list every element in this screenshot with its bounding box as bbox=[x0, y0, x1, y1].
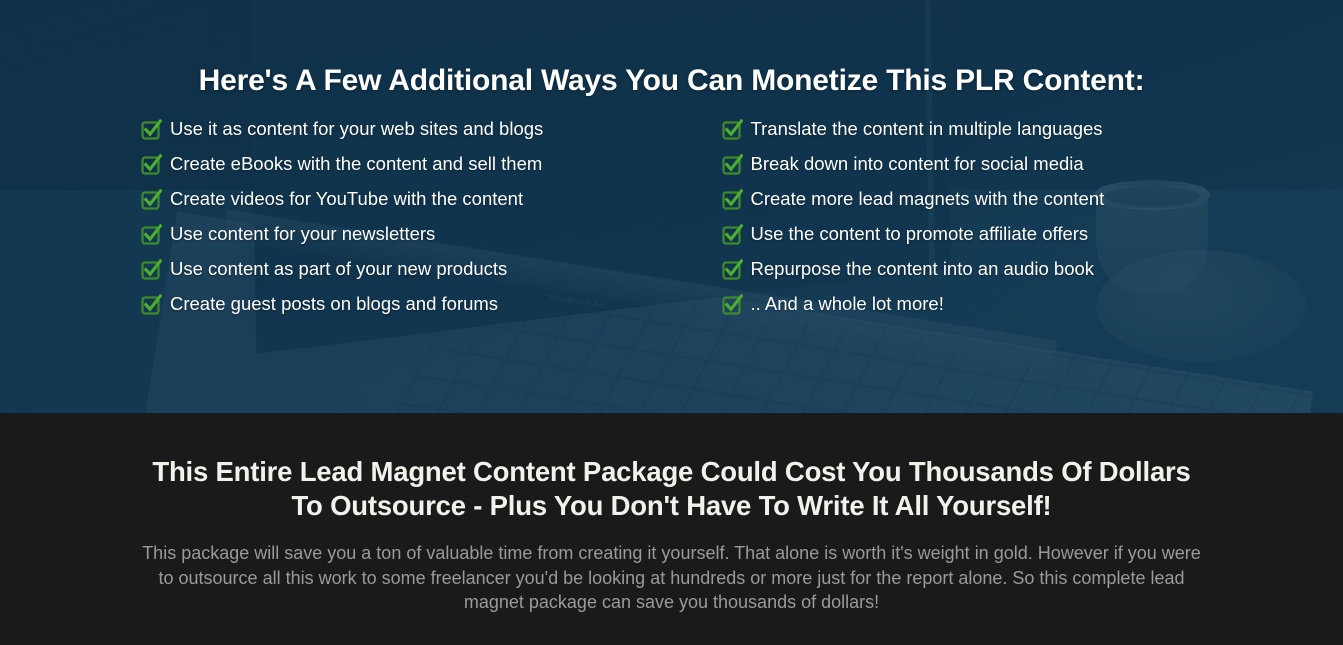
benefits-column-right: Translate the content in multiple langua… bbox=[672, 118, 1343, 328]
list-item: Create guest posts on blogs and forums bbox=[141, 293, 672, 328]
list-item-label: Create eBooks with the content and sell … bbox=[170, 153, 542, 175]
list-item-label: Use content as part of your new products bbox=[170, 258, 507, 280]
green-check-box-icon bbox=[141, 119, 162, 140]
list-item: Use content for your newsletters bbox=[141, 223, 672, 258]
green-check-box-icon bbox=[722, 189, 743, 210]
list-item: Create more lead magnets with the conten… bbox=[722, 188, 1343, 223]
list-item: Create videos for YouTube with the conte… bbox=[141, 188, 672, 223]
green-check-box-icon bbox=[141, 294, 162, 315]
monetize-content: Here's A Few Additional Ways You Can Mon… bbox=[0, 0, 1343, 413]
green-check-box-icon bbox=[722, 224, 743, 245]
benefits-columns: Use it as content for your web sites and… bbox=[0, 118, 1343, 328]
list-item-label: Create more lead magnets with the conten… bbox=[751, 188, 1105, 210]
green-check-box-icon bbox=[141, 224, 162, 245]
cost-heading-line-2: To Outsource - Plus You Don't Have To Wr… bbox=[291, 490, 1051, 521]
list-item: Create eBooks with the content and sell … bbox=[141, 153, 672, 188]
cost-heading-line-1: This Entire Lead Magnet Content Package … bbox=[152, 456, 1190, 487]
list-item: Translate the content in multiple langua… bbox=[722, 118, 1343, 153]
cost-section: This Entire Lead Magnet Content Package … bbox=[0, 413, 1343, 645]
green-check-box-icon bbox=[722, 259, 743, 280]
list-item: .. And a whole lot more! bbox=[722, 293, 1343, 328]
green-check-box-icon bbox=[722, 294, 743, 315]
green-check-box-icon bbox=[141, 189, 162, 210]
green-check-box-icon bbox=[722, 154, 743, 175]
list-item-label: Create guest posts on blogs and forums bbox=[170, 293, 498, 315]
list-item-label: .. And a whole lot more! bbox=[751, 293, 944, 315]
cost-paragraph: This package will save you a ton of valu… bbox=[142, 541, 1202, 615]
list-item-label: Create videos for YouTube with the conte… bbox=[170, 188, 523, 210]
list-item: Break down into content for social media bbox=[722, 153, 1343, 188]
cost-heading: This Entire Lead Magnet Content Package … bbox=[82, 413, 1262, 523]
list-item: Use it as content for your web sites and… bbox=[141, 118, 672, 153]
list-item-label: Break down into content for social media bbox=[751, 153, 1084, 175]
green-check-box-icon bbox=[722, 119, 743, 140]
monetize-title: Here's A Few Additional Ways You Can Mon… bbox=[0, 64, 1343, 98]
list-item-label: Use content for your newsletters bbox=[170, 223, 435, 245]
landing-page: MacBook Air Here's A Few Additional Ways… bbox=[0, 0, 1343, 645]
list-item-label: Repurpose the content into an audio book bbox=[751, 258, 1095, 280]
list-item-label: Use the content to promote affiliate off… bbox=[751, 223, 1089, 245]
list-item-label: Translate the content in multiple langua… bbox=[751, 118, 1103, 140]
list-item-label: Use it as content for your web sites and… bbox=[170, 118, 543, 140]
green-check-box-icon bbox=[141, 154, 162, 175]
green-check-box-icon bbox=[141, 259, 162, 280]
list-item: Use content as part of your new products bbox=[141, 258, 672, 293]
monetize-section: MacBook Air Here's A Few Additional Ways… bbox=[0, 0, 1343, 413]
list-item: Use the content to promote affiliate off… bbox=[722, 223, 1343, 258]
benefits-column-left: Use it as content for your web sites and… bbox=[0, 118, 672, 328]
list-item: Repurpose the content into an audio book bbox=[722, 258, 1343, 293]
